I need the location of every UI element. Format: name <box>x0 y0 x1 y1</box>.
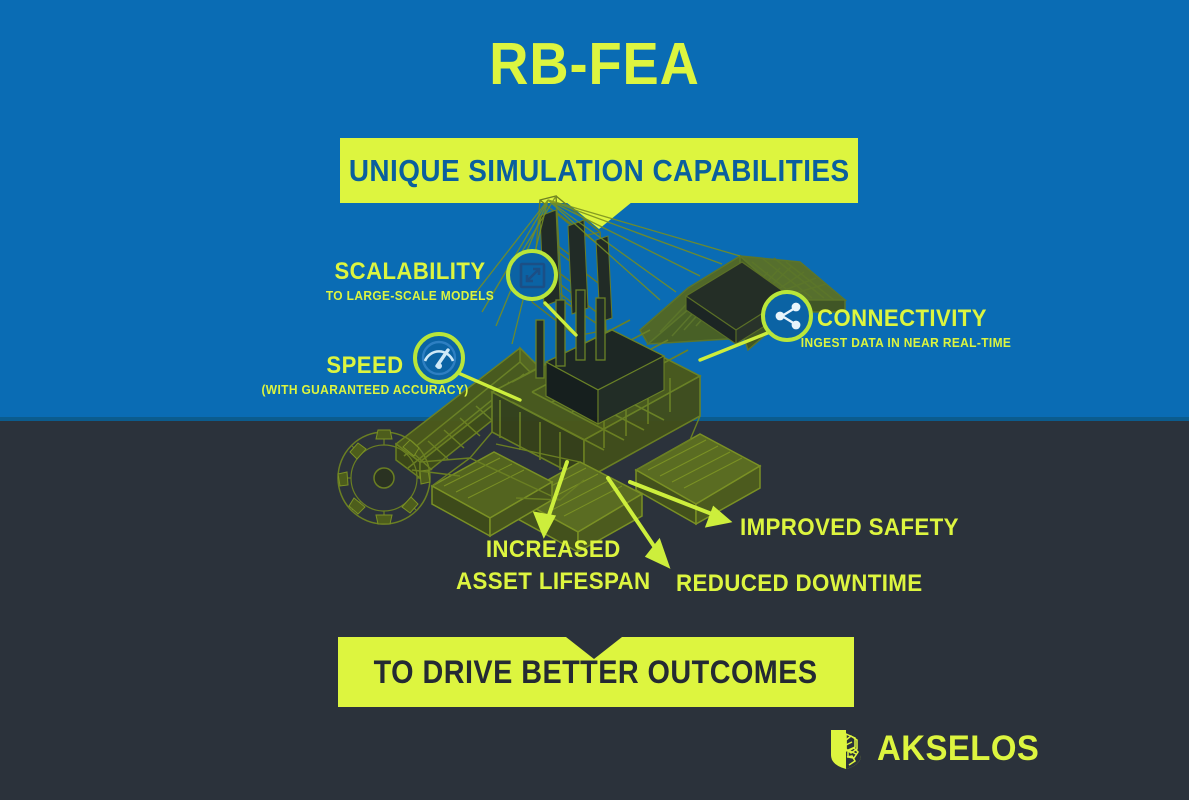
capability-scalability[interactable]: SCALABILITY TO LARGE-SCALE MODELS <box>300 258 520 303</box>
outcome-lifespan-line2: ASSET LIFESPAN <box>456 566 651 598</box>
speedometer-icon[interactable] <box>410 330 472 397</box>
banner-bottom-notch <box>566 637 622 659</box>
outcome-improved-safety-label: IMPROVED SAFETY <box>740 514 959 541</box>
akselos-wordmark: AKSELOS <box>877 729 1039 769</box>
outcome-reduced-downtime: REDUCED DOWNTIME <box>676 568 923 600</box>
infographic-canvas: RB-FEA UNIQUE SIMULATION CAPABILITIES <box>0 0 1189 800</box>
outcome-improved-safety: IMPROVED SAFETY <box>740 512 959 544</box>
capability-scalability-title: SCALABILITY <box>309 258 511 286</box>
capability-connectivity[interactable]: CONNECTIVITY INGEST DATA IN NEAR REAL-TI… <box>792 305 1012 350</box>
outcome-lifespan-line1: INCREASED <box>456 534 651 566</box>
capability-connectivity-title: CONNECTIVITY <box>801 305 1003 333</box>
banner-bottom-label: TO DRIVE BETTER OUTCOMES <box>374 654 818 691</box>
outcome-increased-asset-lifespan: INCREASED ASSET LIFESPAN <box>456 534 651 597</box>
expand-arrow-icon[interactable] <box>503 247 565 314</box>
share-network-icon[interactable] <box>758 288 820 355</box>
capability-scalability-subtitle: TO LARGE-SCALE MODELS <box>309 288 511 303</box>
outcome-reduced-downtime-label: REDUCED DOWNTIME <box>676 570 923 597</box>
capability-connectivity-subtitle: INGEST DATA IN NEAR REAL-TIME <box>801 335 1003 350</box>
akselos-logo[interactable]: AKSELOS <box>828 727 1050 771</box>
akselos-shield-icon <box>828 727 864 771</box>
